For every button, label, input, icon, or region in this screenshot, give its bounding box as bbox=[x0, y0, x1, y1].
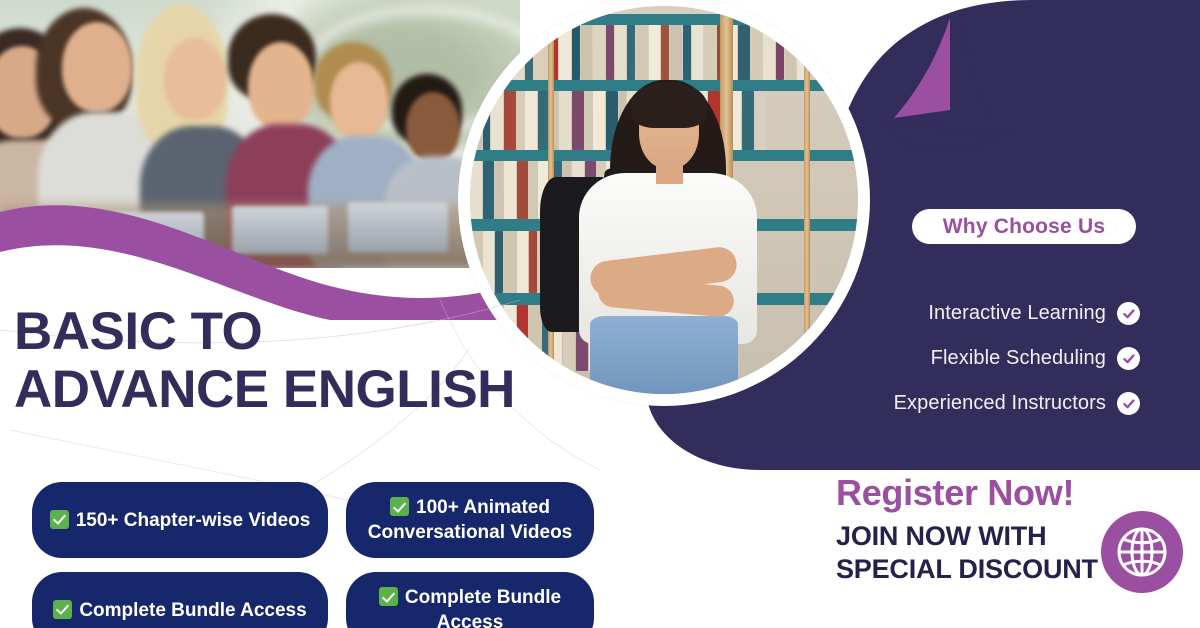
feature-item-experienced-instructors: Experienced Instructors bbox=[894, 392, 1140, 415]
feature-item-interactive-learning: Interactive Learning bbox=[928, 302, 1140, 325]
headline-line-2: ADVANCE ENGLISH bbox=[14, 361, 634, 419]
feature-pill-chapter-videos[interactable]: 150+ Chapter-wise Videos bbox=[32, 482, 328, 558]
page-title: BASIC TO ADVANCE ENGLISH bbox=[14, 303, 634, 419]
sailboat-logo bbox=[862, 8, 1052, 168]
feature-pill-bundle-access-1[interactable]: Complete Bundle Access bbox=[32, 572, 328, 628]
join-discount-text: JOIN NOW WITH SPECIAL DISCOUNT bbox=[836, 520, 1104, 586]
promo-banner: Why Choose Us Interactive Learning Flexi… bbox=[0, 0, 1200, 628]
green-check-icon bbox=[53, 600, 72, 619]
feature-pill-grid: 150+ Chapter-wise Videos 100+ Animated C… bbox=[32, 482, 632, 628]
student-head bbox=[330, 62, 388, 140]
headline-line-1: BASIC TO bbox=[14, 302, 262, 361]
portrait-hair-front bbox=[631, 82, 707, 129]
check-circle-icon bbox=[1117, 392, 1140, 415]
register-now-heading[interactable]: Register Now! bbox=[836, 472, 1074, 514]
feature-label: Experienced Instructors bbox=[894, 392, 1106, 415]
globe-icon[interactable] bbox=[1101, 511, 1183, 593]
feature-pill-bundle-access-2[interactable]: Complete Bundle Access bbox=[346, 572, 594, 628]
student-head bbox=[164, 38, 226, 120]
student-head bbox=[406, 92, 460, 162]
student-head bbox=[62, 22, 132, 112]
green-check-icon bbox=[379, 587, 398, 606]
green-check-icon bbox=[50, 510, 69, 529]
why-choose-us-badge: Why Choose Us bbox=[912, 209, 1136, 244]
feature-label: Interactive Learning bbox=[928, 302, 1106, 325]
check-circle-icon bbox=[1117, 347, 1140, 370]
pill-label: 150+ Chapter-wise Videos bbox=[76, 510, 311, 531]
pill-label: Complete Bundle Access bbox=[405, 587, 561, 628]
green-check-icon bbox=[390, 497, 409, 516]
check-circle-icon bbox=[1117, 302, 1140, 325]
feature-pill-animated-videos[interactable]: 100+ Animated Conversational Videos bbox=[346, 482, 594, 558]
why-choose-feature-list: Interactive Learning Flexible Scheduling… bbox=[720, 302, 1140, 415]
join-line-2: SPECIAL DISCOUNT bbox=[836, 553, 1104, 586]
feature-label: Flexible Scheduling bbox=[931, 347, 1106, 370]
join-line-1: JOIN NOW WITH bbox=[836, 520, 1104, 553]
why-choose-us-label: Why Choose Us bbox=[943, 215, 1105, 239]
student-head bbox=[248, 42, 314, 130]
pill-label: Complete Bundle Access bbox=[79, 600, 306, 621]
feature-item-flexible-scheduling: Flexible Scheduling bbox=[931, 347, 1140, 370]
